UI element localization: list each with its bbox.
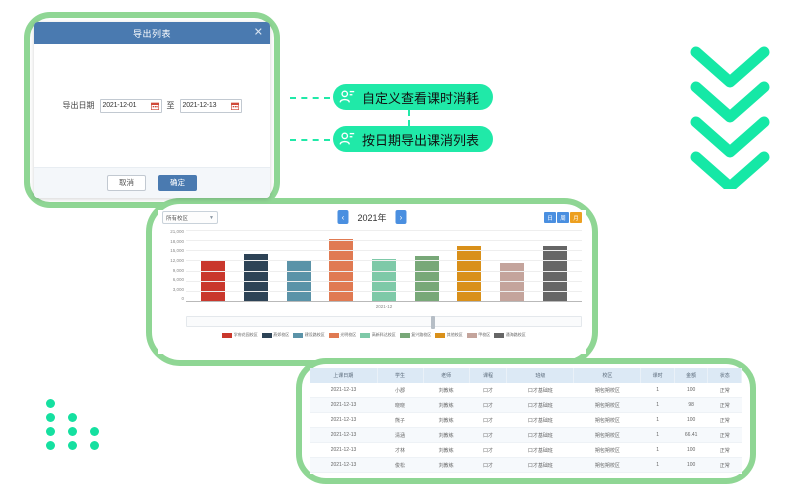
legend-label: 光明校区	[340, 332, 356, 338]
legend-item[interactable]: 燕郊校区	[262, 332, 290, 338]
date-range-separator: 至	[167, 100, 175, 111]
table-cell: 2021-12-13	[310, 398, 377, 413]
course-consumption-table: 上课日期学生老师课程班级校区课时金额状态 2021-12-13小郡刘教练口才口才…	[310, 368, 742, 473]
calendar-icon[interactable]	[231, 102, 239, 110]
legend-swatch	[494, 333, 504, 338]
campus-select-value: 所有校区	[166, 214, 209, 222]
table-cell: 刘教练	[423, 458, 469, 473]
table-cell: 2021-12-13	[310, 443, 377, 458]
table-cell: 2021-12-13	[310, 428, 377, 443]
legend-item[interactable]: 建设路校区	[293, 332, 325, 338]
legend-label: 学府花园校区	[234, 332, 258, 338]
legend-item[interactable]: 高新科达校区	[360, 332, 396, 338]
close-icon[interactable]: ✕	[254, 28, 263, 39]
table-cell: 刘教练	[423, 413, 469, 428]
callout-connector-line	[408, 110, 410, 126]
person-badge-icon	[338, 130, 356, 148]
legend-label: 燕郊校区	[273, 332, 289, 338]
year-label: 2021年	[357, 211, 386, 224]
legend-label: 甲校区	[478, 332, 490, 338]
legend-item[interactable]: 光明校区	[329, 332, 357, 338]
dialog-footer: 取消 确定	[34, 168, 270, 198]
legend-item[interactable]: 复兴路校区	[400, 332, 432, 338]
legend-label: 通海路校区	[506, 332, 526, 338]
table-cell: 朔包朔校区	[574, 413, 641, 428]
table-cell: 口才	[469, 398, 507, 413]
dialog-title: 导出列表	[133, 27, 171, 40]
y-axis-tick: 6,000	[173, 278, 184, 283]
bar[interactable]	[500, 263, 524, 301]
legend-item[interactable]: 其他校区	[435, 332, 463, 338]
y-axis-tick: 12,000	[170, 259, 184, 264]
bar[interactable]	[457, 246, 481, 301]
table-cell: 2021-12-13	[310, 413, 377, 428]
table-row[interactable]: 2021-12-13小郡刘教练口才口才基础班朔包朔校区1100正常	[310, 383, 742, 398]
date-to-value: 2021-12-13	[183, 102, 217, 109]
course-consumption-table-panel: 上课日期学生老师课程班级校区课时金额状态 2021-12-13小郡刘教练口才口才…	[310, 368, 742, 474]
chevron-right-icon[interactable]: ›	[396, 210, 407, 224]
confirm-button[interactable]: 确定	[158, 175, 197, 191]
gridline	[186, 240, 582, 241]
export-dialog: 导出列表 ✕ 导出日期 2021-12-01 至 2021-12-13	[34, 22, 270, 198]
date-from-input[interactable]: 2021-12-01	[100, 99, 162, 113]
dialog-titlebar: 导出列表 ✕	[34, 22, 270, 44]
slider-handle[interactable]	[431, 316, 435, 329]
person-badge-icon	[338, 88, 356, 106]
table-cell: 刘教练	[423, 383, 469, 398]
legend-swatch	[467, 333, 477, 338]
y-axis-tick: 15,000	[170, 249, 184, 254]
table-cell: 朔包朔校区	[574, 458, 641, 473]
legend-swatch	[222, 333, 232, 338]
table-column-header[interactable]: 课时	[641, 368, 675, 383]
dialog-body: 导出日期 2021-12-01 至 2021-12-13	[34, 44, 270, 168]
table-cell: 清涵	[377, 428, 423, 443]
table-cell: 口才	[469, 413, 507, 428]
table-cell: 100	[674, 383, 708, 398]
chart-toolbar: 所有校区 ▼ ‹ 2021年 › 日 周 月	[158, 210, 586, 227]
table-cell: 口才	[469, 428, 507, 443]
table-cell: 口才基础班	[507, 398, 574, 413]
bar[interactable]	[415, 256, 439, 301]
range-button-week[interactable]: 周	[557, 212, 569, 223]
gridline	[186, 230, 582, 231]
legend-label: 复兴路校区	[411, 332, 431, 338]
chart-legend: 学府花园校区燕郊校区建设路校区光明校区高新科达校区复兴路校区其他校区甲校区通海路…	[166, 332, 582, 338]
table-cell: 才林	[377, 443, 423, 458]
callout-export-by-date[interactable]: 按日期导出课消列表	[333, 126, 493, 152]
legend-item[interactable]: 学府花园校区	[222, 332, 258, 338]
table-cell: 正常	[708, 398, 742, 413]
date-range-label: 导出日期	[63, 100, 95, 111]
y-axis-tick: 21,000	[170, 230, 184, 235]
table-cell: 口才	[469, 458, 507, 473]
chevron-down-icon-group	[686, 44, 774, 189]
table-cell: 刘教练	[423, 398, 469, 413]
table-row[interactable]: 2021-12-13清涵刘教练口才口才基础班朔包朔校区166.41正常	[310, 428, 742, 443]
table-cell: 1	[641, 458, 675, 473]
chart-plot-area: 21,00018,00015,00012,0009,0006,0003,0000…	[158, 230, 586, 314]
chart-panel: 所有校区 ▼ ‹ 2021年 › 日 周 月 21,00018,00015,00…	[158, 210, 586, 354]
table-header: 上课日期学生老师课程班级校区课时金额状态	[310, 368, 742, 383]
table-column-header[interactable]: 课程	[469, 368, 507, 383]
callout-connector-line	[290, 139, 330, 141]
chart-datazoom-slider[interactable]	[186, 316, 582, 327]
calendar-icon[interactable]	[151, 102, 159, 110]
table-column-header[interactable]: 金额	[674, 368, 708, 383]
table-cell: 朔包朔校区	[574, 428, 641, 443]
gridline	[186, 281, 582, 282]
table-cell: 口才基础班	[507, 413, 574, 428]
y-axis-tick: 18,000	[170, 240, 184, 245]
y-axis-tick: 0	[181, 297, 184, 302]
table-column-header[interactable]: 班级	[507, 368, 574, 383]
table-cell: 100	[674, 443, 708, 458]
legend-label: 建设路校区	[305, 332, 325, 338]
date-range-row: 导出日期 2021-12-01 至 2021-12-13	[63, 99, 242, 113]
range-toggle-group: 日 周 月	[544, 212, 582, 223]
legend-swatch	[435, 333, 445, 338]
table-cell: 正常	[708, 443, 742, 458]
table-body: 2021-12-13小郡刘教练口才口才基础班朔包朔校区1100正常2021-12…	[310, 383, 742, 473]
table-header-row: 上课日期学生老师课程班级校区课时金额状态	[310, 368, 742, 383]
legend-swatch	[262, 333, 272, 338]
table-cell: 口才基础班	[507, 383, 574, 398]
table-cell: 朔包朔校区	[574, 398, 641, 413]
y-axis-tick: 9,000	[173, 269, 184, 274]
legend-swatch	[329, 333, 339, 338]
y-axis: 21,00018,00015,00012,0009,0006,0003,0000	[158, 230, 184, 302]
table-cell: 朔包朔校区	[574, 383, 641, 398]
table-cell: 正常	[708, 458, 742, 473]
dot-grid-decoration	[46, 399, 108, 451]
table-cell: 正常	[708, 413, 742, 428]
gridline	[186, 271, 582, 272]
range-button-day[interactable]: 日	[544, 212, 556, 223]
gridline	[186, 250, 582, 251]
table-row[interactable]: 2021-12-13才林刘教练口才口才基础班朔包朔校区1100正常	[310, 443, 742, 458]
table-cell: 口才基础班	[507, 428, 574, 443]
table-cell: 熊子	[377, 413, 423, 428]
callout-connector-line	[290, 97, 330, 99]
table-cell: 朔包朔校区	[574, 443, 641, 458]
table-cell: 2021-12-13	[310, 383, 377, 398]
date-to-input[interactable]: 2021-12-13	[180, 99, 242, 113]
table-cell: 2021-12-13	[310, 458, 377, 473]
table-cell: 小郡	[377, 383, 423, 398]
table-cell: 66.41	[674, 428, 708, 443]
callout-custom-view[interactable]: 自定义查看课时消耗	[333, 84, 493, 110]
table-cell: 口才基础班	[507, 458, 574, 473]
table-row[interactable]: 2021-12-13晓晓刘教练口才口才基础班朔包朔校区198正常	[310, 398, 742, 413]
plot-grid	[186, 230, 582, 302]
bar[interactable]	[543, 246, 567, 301]
table-cell: 100	[674, 413, 708, 428]
gridline	[186, 260, 582, 261]
chevron-left-icon[interactable]: ‹	[337, 210, 348, 224]
legend-label: 其他校区	[447, 332, 463, 338]
table-cell: 刘教练	[423, 443, 469, 458]
legend-item[interactable]: 甲校区	[467, 332, 491, 338]
table-row[interactable]: 2021-12-13俊松刘教练口才口才基础班朔包朔校区1100正常	[310, 458, 742, 473]
table-cell: 口才	[469, 383, 507, 398]
legend-swatch	[360, 333, 370, 338]
cancel-button[interactable]: 取消	[107, 175, 146, 191]
y-axis-tick: 3,000	[173, 288, 184, 293]
legend-item[interactable]: 通海路校区	[494, 332, 526, 338]
legend-label: 高新科达校区	[372, 332, 396, 338]
year-navigation: ‹ 2021年 ›	[337, 210, 406, 224]
table-cell: 98	[674, 398, 708, 413]
table-cell: 100	[674, 458, 708, 473]
campus-select[interactable]: 所有校区 ▼	[162, 211, 218, 224]
table-column-header[interactable]: 学生	[377, 368, 423, 383]
table-cell: 1	[641, 413, 675, 428]
range-button-month[interactable]: 月	[570, 212, 582, 223]
table-cell: 刘教练	[423, 428, 469, 443]
table-column-header[interactable]: 老师	[423, 368, 469, 383]
table-cell: 正常	[708, 383, 742, 398]
table-cell: 俊松	[377, 458, 423, 473]
table-column-header[interactable]: 上课日期	[310, 368, 377, 383]
table-cell: 正常	[708, 428, 742, 443]
x-axis-label: 2021-12	[186, 304, 582, 309]
chevron-down-icon: ▼	[209, 215, 214, 221]
legend-swatch	[400, 333, 410, 338]
table-row[interactable]: 2021-12-13熊子刘教练口才口才基础班朔包朔校区1100正常	[310, 413, 742, 428]
table-cell: 1	[641, 443, 675, 458]
table-column-header[interactable]: 状态	[708, 368, 742, 383]
gridline	[186, 291, 582, 292]
table-cell: 口才基础班	[507, 443, 574, 458]
table-column-header[interactable]: 校区	[574, 368, 641, 383]
callout-label: 按日期导出课消列表	[362, 130, 479, 149]
table-cell: 1	[641, 398, 675, 413]
legend-swatch	[293, 333, 303, 338]
table-cell: 1	[641, 383, 675, 398]
table-cell: 晓晓	[377, 398, 423, 413]
date-from-value: 2021-12-01	[103, 102, 137, 109]
table-cell: 口才	[469, 443, 507, 458]
callout-label: 自定义查看课时消耗	[362, 88, 479, 107]
table-cell: 1	[641, 428, 675, 443]
